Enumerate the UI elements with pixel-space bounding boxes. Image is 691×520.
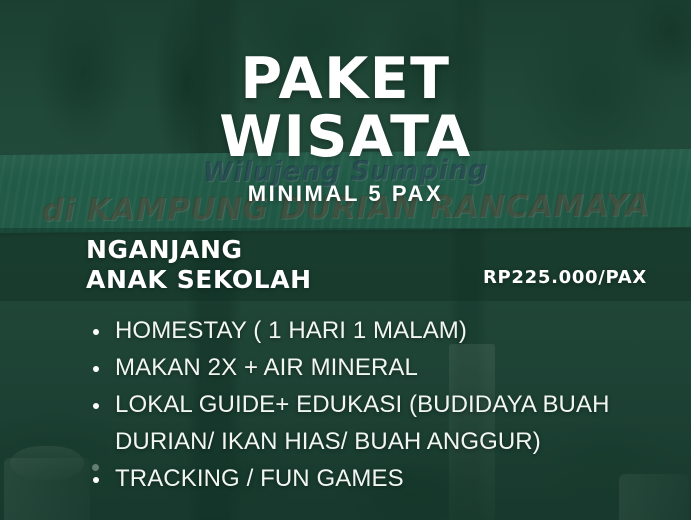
package-header-row: NGANJANG ANAK SEKOLAH RP225.000/PAX bbox=[0, 228, 691, 301]
feature-item: LOKAL GUIDE+ EDUKASI (BUDIDAYA BUAH DURI… bbox=[88, 386, 661, 460]
package-name-line-2: ANAK SEKOLAH bbox=[86, 265, 483, 295]
feature-item: TRACKING / FUN GAMES bbox=[88, 460, 661, 497]
title-line-1: PAKET bbox=[240, 46, 450, 112]
poster-canvas: Wilujeng Sumping di KAMPUNG DURIAN RANCA… bbox=[0, 0, 691, 520]
feature-item: HOMESTAY ( 1 HARI 1 MALAM) bbox=[88, 312, 661, 349]
poster-content: PAKET WISATA MINIMAL 5 PAX NGANJANG ANAK… bbox=[0, 0, 691, 520]
package-price: RP225.000/PAX bbox=[483, 267, 647, 301]
subtitle-minimum-pax: MINIMAL 5 PAX bbox=[0, 181, 691, 207]
package-name-line-1: NGANJANG bbox=[86, 235, 483, 265]
page-title: PAKET WISATA bbox=[0, 50, 691, 166]
feature-item: MAKAN 2X + AIR MINERAL bbox=[88, 349, 661, 386]
package-name: NGANJANG ANAK SEKOLAH bbox=[86, 235, 483, 295]
title-line-2: WISATA bbox=[0, 108, 691, 166]
feature-list: HOMESTAY ( 1 HARI 1 MALAM)MAKAN 2X + AIR… bbox=[88, 312, 661, 497]
